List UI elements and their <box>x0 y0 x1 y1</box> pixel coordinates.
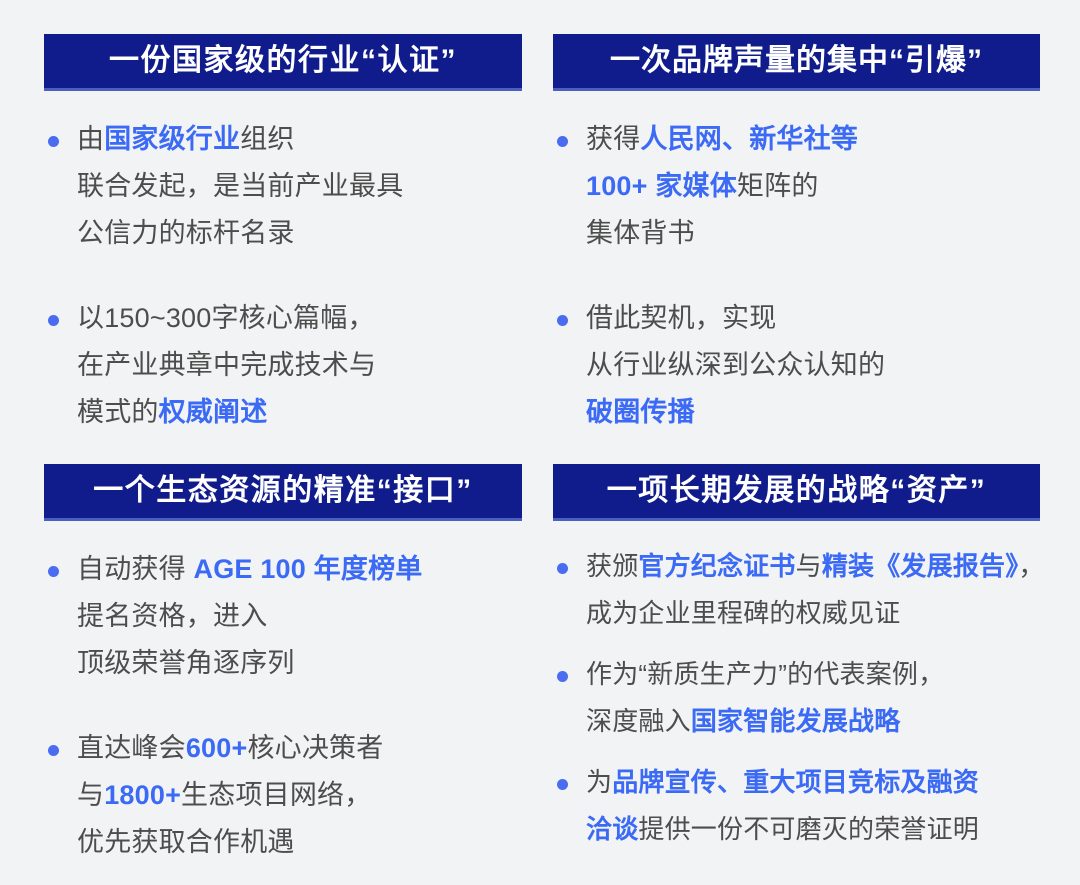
text-run: 提供一份不可磨灭的荣誉证明 <box>638 814 979 844</box>
card-title-banner: 一项长期发展的战略“资产” <box>553 464 1040 521</box>
bullet-list: 由国家级行业组织 联合发起，是当前产业最具 公信力的标杆名录 以150~300字… <box>44 116 522 436</box>
bullet-dot-icon <box>557 136 568 147</box>
bullet-line: 获得人民网、新华社等 <box>586 116 1040 163</box>
bullet-dot-icon <box>48 566 59 577</box>
text-run: 集体背书 <box>586 218 695 248</box>
feature-card-strategic-asset: 一项长期发展的战略“资产” 获颁官方纪念证书与精装《发展报告》， 成为企业里程碑… <box>553 464 1040 853</box>
bullet-line: 作为“新质生产力”的代表案例， <box>586 651 1040 698</box>
list-item: 直达峰会600+核心决策者 与1800+生态项目网络， 优先获取合作机遇 <box>44 725 522 866</box>
bullet-line: 优先获取合作机遇 <box>77 819 522 866</box>
bullet-line: 由国家级行业组织 <box>77 116 522 163</box>
bullet-dot-icon <box>557 671 568 682</box>
text-run: 提名资格，进入 <box>77 601 267 631</box>
bullet-list: 获得人民网、新华社等 100+ 家媒体矩阵的 集体背书 借此契机，实现 从行业纵… <box>553 116 1040 436</box>
infographic-page: 一份国家级的行业“认证” 由国家级行业组织 联合发起，是当前产业最具 公信力的标… <box>0 0 1080 885</box>
text-run-highlight: 人民网、新华社等 <box>640 124 858 154</box>
bullet-line: 100+ 家媒体矩阵的 <box>586 163 1040 210</box>
bullet-line: 顶级荣誉角逐序列 <box>77 640 522 687</box>
text-run: 借此契机，实现 <box>586 303 776 333</box>
bullet-line: 模式的权威阐述 <box>77 389 522 436</box>
bullet-line: 公信力的标杆名录 <box>77 210 522 257</box>
text-run: 核心决策者 <box>247 733 383 763</box>
bullet-line: 联合发起，是当前产业最具 <box>77 163 522 210</box>
text-run-highlight: 洽谈 <box>586 814 638 844</box>
text-run: 与 <box>77 780 104 810</box>
card-title-banner: 一个生态资源的精准“接口” <box>44 464 522 521</box>
bullet-dot-icon <box>557 779 568 790</box>
bullet-line: 集体背书 <box>586 210 1040 257</box>
bullet-line: 为品牌宣传、重大项目竞标及融资 <box>586 759 1040 806</box>
bullet-list: 自动获得 AGE 100 年度榜单 提名资格，进入 顶级荣誉角逐序列 直达峰会6… <box>44 546 522 866</box>
text-run: 获颁 <box>586 551 638 581</box>
list-item: 自动获得 AGE 100 年度榜单 提名资格，进入 顶级荣誉角逐序列 <box>44 546 522 687</box>
text-run: 作为“新质生产力”的代表案例， <box>586 659 944 689</box>
text-run: 获得 <box>586 124 640 154</box>
bullet-line: 以150~300字核心篇幅， <box>77 295 522 342</box>
bullet-line: 直达峰会600+核心决策者 <box>77 725 522 772</box>
text-run-highlight: 600+ <box>186 733 248 763</box>
card-title-text: 一项长期发展的战略“资产” <box>607 476 987 506</box>
text-run-highlight: 国家级行业 <box>104 124 240 154</box>
text-run: 组织 <box>240 124 294 154</box>
bullet-dot-icon <box>48 315 59 326</box>
text-run: 优先获取合作机遇 <box>77 827 295 857</box>
bullet-line: 借此契机，实现 <box>586 295 1040 342</box>
card-title-text: 一份国家级的行业“认证” <box>109 46 457 76</box>
card-title-text: 一个生态资源的精准“接口” <box>93 476 473 506</box>
list-item: 由国家级行业组织 联合发起，是当前产业最具 公信力的标杆名录 <box>44 116 522 257</box>
text-run-highlight: 国家智能发展战略 <box>691 706 901 736</box>
text-run: ， <box>1018 551 1044 581</box>
bullet-dot-icon <box>48 136 59 147</box>
text-run-highlight: 1800+ <box>104 780 181 810</box>
feature-card-certification: 一份国家级的行业“认证” 由国家级行业组织 联合发起，是当前产业最具 公信力的标… <box>44 34 522 436</box>
feature-card-brand-voice: 一次品牌声量的集中“引爆” 获得人民网、新华社等 100+ 家媒体矩阵的 集体背… <box>553 34 1040 436</box>
list-item: 获颁官方纪念证书与精装《发展报告》， 成为企业里程碑的权威见证 <box>553 543 1040 637</box>
list-item: 为品牌宣传、重大项目竞标及融资 洽谈提供一份不可磨灭的荣誉证明 <box>553 759 1040 853</box>
text-run-highlight: 100+ 家媒体 <box>586 171 737 201</box>
list-item: 作为“新质生产力”的代表案例， 深度融入国家智能发展战略 <box>553 651 1040 745</box>
text-run-highlight: 官方纪念证书 <box>638 551 795 581</box>
bullet-line: 获颁官方纪念证书与精装《发展报告》， <box>586 543 1040 590</box>
bullet-line: 在产业典章中完成技术与 <box>77 342 522 389</box>
card-title-text: 一次品牌声量的集中“引爆” <box>610 46 983 76</box>
card-title-banner: 一份国家级的行业“认证” <box>44 34 522 91</box>
bullet-line: 破圈传播 <box>586 389 1040 436</box>
text-run: 矩阵的 <box>737 171 819 201</box>
text-run-highlight: AGE 100 年度榜单 <box>194 554 423 584</box>
feature-card-ecosystem-interface: 一个生态资源的精准“接口” 自动获得 AGE 100 年度榜单 提名资格，进入 … <box>44 464 522 866</box>
text-run: 直达峰会 <box>77 733 186 763</box>
bullet-line: 从行业纵深到公众认知的 <box>586 342 1040 389</box>
bullet-dot-icon <box>48 745 59 756</box>
text-run-highlight: 品牌宣传、重大项目竞标及融资 <box>612 767 979 797</box>
list-item: 获得人民网、新华社等 100+ 家媒体矩阵的 集体背书 <box>553 116 1040 257</box>
text-run: 自动获得 <box>77 554 194 584</box>
bullet-dot-icon <box>557 315 568 326</box>
bullet-line: 深度融入国家智能发展战略 <box>586 698 1040 745</box>
text-run: 顶级荣誉角逐序列 <box>77 648 295 678</box>
bullet-line: 与1800+生态项目网络， <box>77 772 522 819</box>
text-run: 为 <box>586 767 612 797</box>
text-run: 在产业典章中完成技术与 <box>77 350 376 380</box>
text-run: 与 <box>796 551 822 581</box>
bullet-line: 自动获得 AGE 100 年度榜单 <box>77 546 522 593</box>
text-run: 生态项目网络， <box>181 780 371 810</box>
text-run: 由 <box>77 124 104 154</box>
bullet-list: 获颁官方纪念证书与精装《发展报告》， 成为企业里程碑的权威见证 作为“新质生产力… <box>553 543 1040 853</box>
bullet-dot-icon <box>557 563 568 574</box>
text-run-highlight: 权威阐述 <box>159 397 268 427</box>
card-title-banner: 一次品牌声量的集中“引爆” <box>553 34 1040 91</box>
text-run: 公信力的标杆名录 <box>77 218 295 248</box>
text-run: 以150~300字核心篇幅， <box>77 303 375 333</box>
text-run-highlight: 精装《发展报告》 <box>822 551 1019 581</box>
list-item: 以150~300字核心篇幅， 在产业典章中完成技术与 模式的权威阐述 <box>44 295 522 436</box>
text-run: 从行业纵深到公众认知的 <box>586 350 885 380</box>
text-run: 成为企业里程碑的权威见证 <box>586 598 900 628</box>
bullet-line: 提名资格，进入 <box>77 593 522 640</box>
text-run-highlight: 破圈传播 <box>586 397 695 427</box>
bullet-line: 成为企业里程碑的权威见证 <box>586 590 1040 637</box>
list-item: 借此契机，实现 从行业纵深到公众认知的 破圈传播 <box>553 295 1040 436</box>
text-run: 深度融入 <box>586 706 691 736</box>
text-run: 联合发起，是当前产业最具 <box>77 171 403 201</box>
bullet-line: 洽谈提供一份不可磨灭的荣誉证明 <box>586 806 1040 853</box>
text-run: 模式的 <box>77 397 159 427</box>
